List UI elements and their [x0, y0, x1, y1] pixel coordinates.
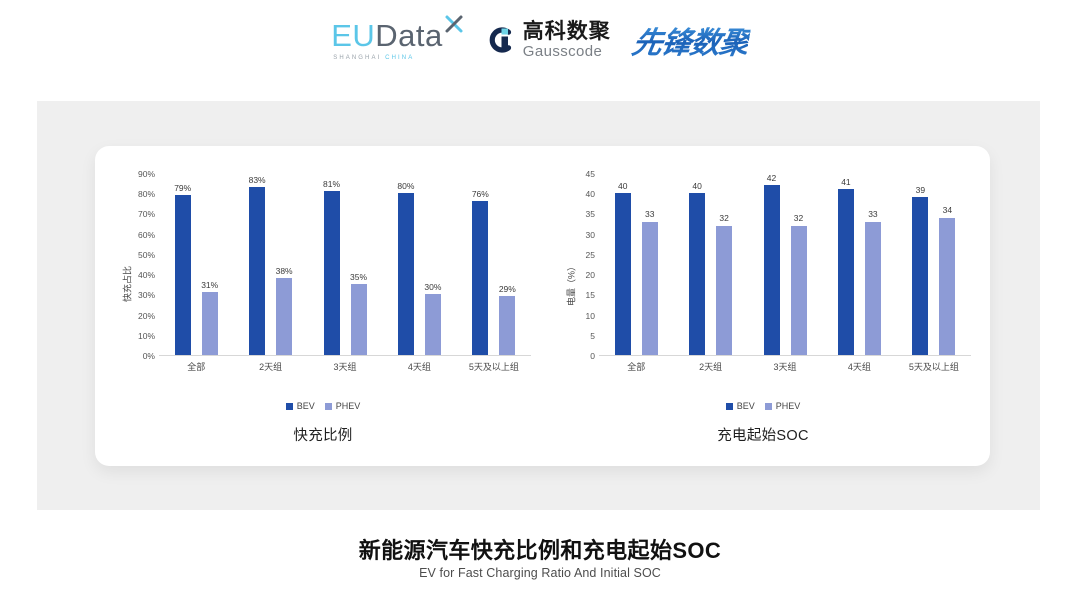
bar-phev[interactable]: 30%	[425, 294, 441, 355]
bar-phev[interactable]: 32	[716, 226, 732, 355]
bar-fill	[615, 193, 631, 355]
bar-phev[interactable]: 31%	[202, 292, 218, 355]
bar-fill	[865, 222, 881, 355]
bar-value-label: 29%	[499, 285, 516, 294]
chart-title: 充电起始SOC	[543, 424, 983, 445]
y-tick-label: 50%	[138, 251, 155, 260]
bar-bev[interactable]: 41	[838, 189, 854, 355]
bar-fill	[838, 189, 854, 355]
bar-bev[interactable]: 76%	[472, 201, 488, 355]
y-tick-label: 30	[586, 230, 595, 239]
gausscode-logo: 高科数聚 Gausscode	[486, 21, 611, 59]
bar-value-label: 38%	[276, 267, 293, 276]
evdata-tagline-city: SHANGHAI	[333, 55, 381, 61]
bar-group: 4032	[673, 174, 747, 355]
bar-phev[interactable]: 33	[642, 222, 658, 355]
y-tick-label: 25	[586, 251, 595, 260]
gausscode-c-mark-icon	[486, 25, 516, 55]
bar-fill	[249, 187, 265, 355]
x-tick-label: 2天组	[233, 360, 307, 373]
chart-legend: BEVPHEV	[103, 401, 543, 411]
bars-plot: 79%31%83%38%81%35%80%30%76%29%	[159, 174, 531, 356]
y-tick-label: 20	[586, 271, 595, 280]
bar-fill	[202, 292, 218, 355]
y-tick-label: 30%	[138, 291, 155, 300]
y-tick-label: 35	[586, 210, 595, 219]
bar-group: 80%30%	[382, 174, 456, 355]
y-tick-label: 10	[586, 311, 595, 320]
y-tick-label: 0	[590, 352, 595, 361]
bar-group: 83%38%	[233, 174, 307, 355]
bar-phev[interactable]: 38%	[276, 278, 292, 355]
bar-fill	[939, 218, 955, 356]
evdata-logo: E U Data SHANGHAI CHINA	[331, 20, 464, 61]
legend-item-phev[interactable]: PHEV	[325, 401, 361, 411]
bar-value-label: 76%	[472, 190, 489, 199]
bar-value-label: 40	[692, 182, 701, 191]
slide-root: E U Data SHANGHAI CHINA	[0, 0, 1080, 608]
legend-label: PHEV	[776, 401, 801, 411]
x-tick-label: 2天组	[673, 360, 747, 373]
legend-swatch-icon	[325, 403, 332, 410]
bars-plot: 40334032423241333934	[599, 174, 971, 356]
legend-item-bev[interactable]: BEV	[286, 401, 315, 411]
bar-fill	[472, 201, 488, 355]
bar-group: 79%31%	[159, 174, 233, 355]
legend-label: PHEV	[336, 401, 361, 411]
legend-item-bev[interactable]: BEV	[726, 401, 755, 411]
bar-bev[interactable]: 81%	[324, 191, 340, 355]
bar-group: 4033	[599, 174, 673, 355]
bar-fill	[398, 193, 414, 355]
plot-area-right: 电量（%） 051015202530354045 403340324232413…	[543, 164, 983, 404]
x-tick-label: 全部	[599, 360, 673, 373]
y-tick-label: 40%	[138, 271, 155, 280]
bar-fill	[175, 195, 191, 355]
bar-value-label: 35%	[350, 273, 367, 282]
xianfeng-logo: 先锋数聚	[629, 18, 753, 62]
evdata-wordmark: Data	[375, 20, 442, 51]
bar-fill	[351, 284, 367, 355]
bar-value-label: 42	[767, 174, 776, 183]
bar-value-label: 83%	[249, 176, 266, 185]
bar-value-label: 30%	[424, 283, 441, 292]
bar-fill	[912, 197, 928, 355]
bar-value-label: 40	[618, 182, 627, 191]
bar-value-label: 79%	[174, 184, 191, 193]
x-tick-label: 3天组	[748, 360, 822, 373]
bar-bev[interactable]: 40	[689, 193, 705, 355]
bar-groups: 79%31%83%38%81%35%80%30%76%29%	[159, 174, 531, 355]
bar-phev[interactable]: 29%	[499, 296, 515, 355]
gausscode-name-en: Gausscode	[523, 44, 611, 59]
x-tick-label: 5天及以上组	[457, 360, 531, 373]
y-tick-label: 90%	[138, 170, 155, 179]
legend-swatch-icon	[765, 403, 772, 410]
bar-fill	[716, 226, 732, 355]
bar-groups: 40334032423241333934	[599, 174, 971, 355]
x-tick-label: 3天组	[308, 360, 382, 373]
chart-legend: BEVPHEV	[543, 401, 983, 411]
y-tick-label: 40	[586, 190, 595, 199]
y-axis-ticks: 051015202530354045	[561, 174, 595, 356]
legend-label: BEV	[297, 401, 315, 411]
legend-swatch-icon	[286, 403, 293, 410]
bar-fill	[642, 222, 658, 355]
bar-bev[interactable]: 40	[615, 193, 631, 355]
y-tick-label: 15	[586, 291, 595, 300]
plot-area-left: 快充占比 0%10%20%30%40%50%60%70%80%90% 79%31…	[103, 164, 543, 404]
bar-fill	[791, 226, 807, 355]
y-tick-label: 45	[586, 170, 595, 179]
chart-initial-soc: 电量（%） 051015202530354045 403340324232413…	[543, 146, 983, 466]
bar-bev[interactable]: 80%	[398, 193, 414, 355]
bar-bev[interactable]: 79%	[175, 195, 191, 355]
x-mark-icon	[444, 14, 464, 34]
evdata-tagline: SHANGHAI CHINA	[333, 55, 414, 61]
gausscode-name-cn: 高科数聚	[523, 21, 611, 42]
x-tick-label: 5天及以上组	[897, 360, 971, 373]
y-tick-label: 80%	[138, 190, 155, 199]
bar-bev[interactable]: 42	[764, 185, 780, 355]
x-tick-label: 4天组	[382, 360, 456, 373]
bar-value-label: 32	[794, 214, 803, 223]
x-tick-label: 4天组	[822, 360, 896, 373]
bar-bev[interactable]: 39	[912, 197, 928, 355]
bar-value-label: 80%	[397, 182, 414, 191]
bar-phev[interactable]: 35%	[351, 284, 367, 355]
bar-value-label: 34	[943, 206, 952, 215]
bar-value-label: 32	[719, 214, 728, 223]
legend-label: BEV	[737, 401, 755, 411]
bar-fill	[689, 193, 705, 355]
bar-phev[interactable]: 34	[939, 218, 955, 356]
bar-value-label: 33	[868, 210, 877, 219]
bar-value-label: 41	[841, 178, 850, 187]
chart-fast-charging-ratio: 快充占比 0%10%20%30%40%50%60%70%80%90% 79%31…	[103, 146, 543, 466]
bar-value-label: 31%	[201, 281, 218, 290]
x-tick-label: 全部	[159, 360, 233, 373]
y-tick-label: 5	[590, 332, 595, 341]
bar-group: 81%35%	[308, 174, 382, 355]
legend-swatch-icon	[726, 403, 733, 410]
bar-group: 76%29%	[457, 174, 531, 355]
bar-bev[interactable]: 83%	[249, 187, 265, 355]
logo-bar: E U Data SHANGHAI CHINA	[0, 18, 1080, 62]
page-title: 新能源汽车快充比例和充电起始SOC	[0, 533, 1080, 565]
y-tick-label: 20%	[138, 311, 155, 320]
bar-fill	[276, 278, 292, 355]
y-axis-ticks: 0%10%20%30%40%50%60%70%80%90%	[121, 174, 155, 356]
charts-card: 快充占比 0%10%20%30%40%50%60%70%80%90% 79%31…	[95, 146, 990, 466]
evdata-tagline-country: CHINA	[385, 55, 414, 61]
bar-group: 4232	[748, 174, 822, 355]
y-tick-label: 60%	[138, 230, 155, 239]
bar-group: 3934	[897, 174, 971, 355]
bar-value-label: 33	[645, 210, 654, 219]
legend-item-phev[interactable]: PHEV	[765, 401, 801, 411]
bar-group: 4133	[822, 174, 896, 355]
x-axis-ticks: 全部2天组3天组4天组5天及以上组	[159, 360, 531, 373]
bar-value-label: 81%	[323, 180, 340, 189]
evdata-letter-e: E	[331, 20, 352, 51]
bar-phev[interactable]: 33	[865, 222, 881, 355]
bar-fill	[499, 296, 515, 355]
bar-fill	[324, 191, 340, 355]
x-axis-ticks: 全部2天组3天组4天组5天及以上组	[599, 360, 971, 373]
y-tick-label: 0%	[143, 352, 155, 361]
bar-value-label: 39	[916, 186, 925, 195]
y-tick-label: 10%	[138, 332, 155, 341]
page-subtitle: EV for Fast Charging Ratio And Initial S…	[0, 566, 1080, 580]
bar-phev[interactable]: 32	[791, 226, 807, 355]
evdata-letter-v: U	[352, 20, 375, 51]
chart-title: 快充比例	[103, 424, 543, 445]
bar-fill	[425, 294, 441, 355]
y-tick-label: 70%	[138, 210, 155, 219]
bar-fill	[764, 185, 780, 355]
